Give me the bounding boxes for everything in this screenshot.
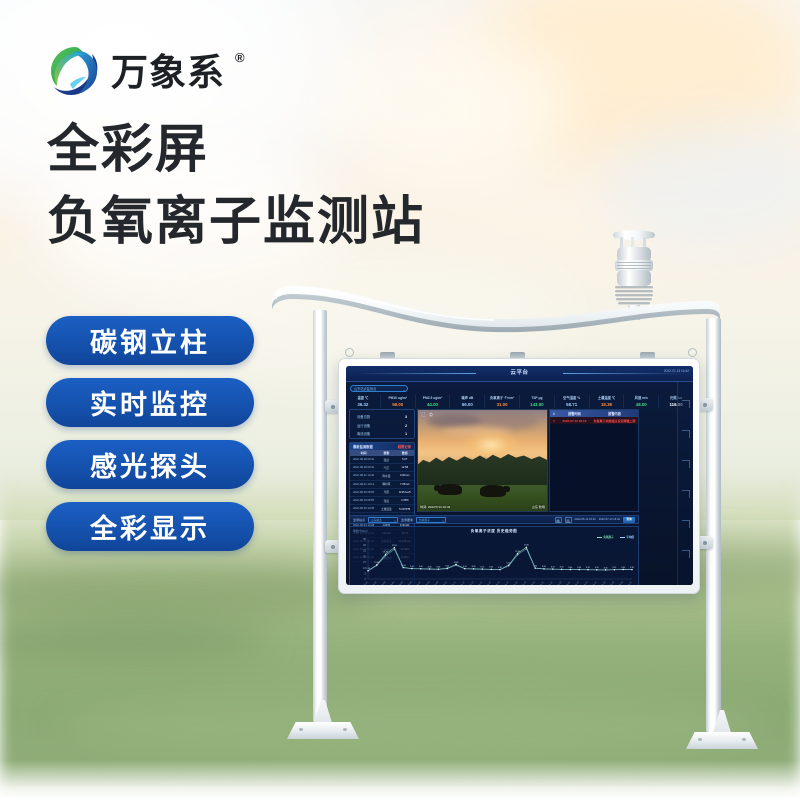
screen-right-rail — [677, 382, 693, 585]
records-title: 最新监测数据 — [353, 444, 373, 449]
record-time: 2022-08-19 08:55 — [350, 499, 377, 502]
anchor-hole — [698, 738, 702, 741]
table-row[interactable]: 2022-08-28 09:32气压12.58 — [350, 464, 414, 472]
metric-value: 143.00 — [520, 401, 554, 408]
alarm-col-message: 报警内容 — [591, 411, 638, 416]
svg-text:08-12: 08-12 — [461, 581, 467, 585]
brand-name: 万象系 — [111, 54, 225, 91]
svg-text:08-29: 08-29 — [610, 581, 616, 585]
record-value: 7.05m/s — [396, 483, 414, 486]
metric-value: 48.00 — [624, 401, 658, 408]
svg-text:27.80: 27.80 — [524, 545, 529, 547]
table-row[interactable]: 2022-08-18 13:35土壤温度5.0074℃ — [350, 505, 414, 513]
svg-text:08-25: 08-25 — [575, 581, 581, 585]
toolbar-label-element: 监测要素 — [401, 518, 413, 522]
record-time: 2022-08-28 09:32 — [350, 458, 377, 461]
chart-title: 负氧离子浓度 历史趋势图 — [471, 529, 518, 534]
record-name: 湿度 — [377, 499, 395, 503]
toolbar-element-select[interactable]: 负氧离子 ▾ — [416, 517, 446, 523]
record-name: 温度 — [377, 458, 395, 462]
metric-value: 31.00 — [485, 401, 519, 408]
record-time: 2022-08-21 13:12 — [350, 483, 377, 486]
svg-text:0: 0 — [365, 577, 367, 581]
svg-text:8.20: 8.20 — [586, 567, 590, 569]
station-select-value: 山东站点监测点 — [354, 387, 376, 391]
svg-text:5: 5 — [365, 571, 367, 575]
stats-value: 1 — [405, 430, 407, 439]
screen-title: 云平台 — [510, 368, 528, 376]
svg-text:15: 15 — [363, 560, 366, 564]
metric-2: PM2.5 ug/m³ 44.00 — [416, 395, 451, 408]
svg-text:8.30: 8.30 — [630, 567, 634, 569]
anchor-hole — [742, 738, 746, 741]
anchor-base-plate-right — [686, 710, 758, 750]
table-row[interactable]: 2022-08-19 08:55湿度3.35% — [350, 497, 414, 505]
svg-text:8.30: 8.30 — [498, 567, 502, 569]
rail-node — [682, 550, 690, 558]
headline-line-2: 负氧离子监测站 — [47, 194, 425, 250]
svg-text:08-31: 08-31 — [628, 581, 634, 585]
svg-text:8.00: 8.00 — [604, 567, 608, 569]
rail-node — [682, 520, 690, 528]
chart-icon[interactable]: ▥ — [565, 517, 572, 523]
rail-node — [682, 400, 690, 408]
column-header-name: 要素 — [377, 451, 395, 455]
stats-row: 离线设备 1 — [350, 430, 414, 439]
metric-4: 负氧离子 个/cm³ 31.00 — [485, 395, 520, 408]
svg-text:22.40: 22.40 — [515, 551, 520, 553]
headline-line-1: 全彩屏 — [47, 122, 425, 178]
metric-5: TSP μg 143.00 — [520, 395, 555, 408]
svg-text:8.30: 8.30 — [577, 567, 581, 569]
feature-pill-2[interactable]: 感光探头 — [46, 440, 254, 489]
records-alert-label: 超限记录 — [398, 444, 411, 449]
chart-unit-label: 单位(个/cm³) — [353, 529, 368, 533]
record-value: 0.00mm — [396, 474, 414, 477]
toolbar-date-end[interactable]: 2022-07-13 16:42 — [599, 518, 620, 521]
feature-pill-list: 碳钢立柱 实时监控 感光探头 全彩显示 — [46, 316, 254, 551]
svg-text:8.70: 8.70 — [551, 566, 555, 568]
display-enclosure: 云平台 2022-07-13 16:42 山东站点监测点 ▾ 温度 ℃ 36.3… — [338, 358, 700, 594]
table-row[interactable]: 2022-08-28 09:32温度5.07 — [350, 456, 414, 464]
alarm-time: 2022-07-13 16:12 — [558, 419, 591, 423]
lifting-eye-right-icon — [688, 348, 697, 357]
record-name: 瞬时风 — [377, 482, 395, 486]
chevron-down-icon: ▾ — [403, 388, 405, 395]
anchor-hole — [299, 728, 303, 731]
wave-canopy — [268, 281, 720, 343]
svg-text:20: 20 — [363, 554, 366, 558]
svg-text:8.20: 8.20 — [613, 567, 617, 569]
svg-text:9.20: 9.20 — [410, 566, 414, 568]
svg-text:12.80: 12.80 — [454, 562, 459, 564]
svg-text:08-13: 08-13 — [469, 581, 475, 585]
svg-text:35: 35 — [363, 537, 366, 541]
record-time: 2022-08-21 14:40 — [350, 474, 377, 477]
metric-6: 空气湿度 % 58.71 — [555, 395, 590, 408]
svg-text:08-11: 08-11 — [452, 581, 457, 585]
svg-text:08-20: 08-20 — [531, 581, 537, 585]
query-toolbar: 监测站点 山东站点 ▾ 监测要素 负氧离子 ▾ ▤ ▥ 2022-06-13 1… — [349, 515, 639, 524]
topbar-deco-left — [356, 373, 476, 374]
svg-text:08-04: 08-04 — [390, 581, 396, 585]
svg-text:08-14: 08-14 — [478, 581, 484, 585]
metric-value: 58.00 — [381, 401, 415, 408]
metric-value: 44.00 — [416, 401, 450, 408]
toolbar-date-start[interactable]: 2022-06-13 16:42 — [575, 518, 596, 521]
metric-value: 36.32 — [346, 401, 380, 408]
metric-1: PM10 ug/m³ 58.00 — [381, 395, 416, 408]
bottom-fade — [0, 760, 800, 800]
record-value: 12.58 — [396, 466, 414, 469]
svg-text:08-24: 08-24 — [566, 581, 572, 585]
record-value: 5.0074℃ — [396, 507, 414, 511]
svg-text:08-05: 08-05 — [399, 581, 405, 585]
svg-text:08-21: 08-21 — [540, 581, 546, 585]
screen-clock: 2022-07-13 16:42 — [664, 369, 689, 373]
svg-text:8.10: 8.10 — [595, 567, 599, 569]
carbon-steel-post-right — [706, 318, 721, 732]
stats-label: 离线设备 — [357, 430, 370, 439]
toolbar-element-value: 负氧离子 — [419, 519, 430, 522]
metric-3: 噪声 dB 66.00 — [450, 395, 485, 408]
svg-text:8.40: 8.40 — [569, 567, 573, 569]
record-name: 气压 — [377, 466, 395, 470]
base-plate — [287, 722, 359, 739]
toolbar-station-value: 山东站点 — [371, 519, 382, 522]
table-row[interactable]: 2022-08-21 14:40降水量0.00mm — [350, 472, 414, 480]
svg-text:08-22: 08-22 — [549, 581, 555, 585]
alarm-panel: # 报警时间 报警内容 1 2022-07-13 16:12 负氧离子浓度超过设… — [549, 409, 639, 512]
anchor-base-plate-left — [287, 700, 359, 740]
table-row[interactable]: 2022-08-20 08:05光照1136 lux/h — [350, 489, 414, 497]
lifting-eye-left-icon — [345, 348, 354, 357]
svg-text:08-17: 08-17 — [505, 581, 511, 585]
svg-text:08-16: 08-16 — [496, 581, 502, 585]
base-plate — [686, 732, 758, 749]
rail-node — [682, 430, 690, 438]
svg-text:08-23: 08-23 — [557, 581, 563, 585]
video-timestamp: 时间: 2022/7/13 16:42 — [420, 504, 450, 509]
svg-text:08-15: 08-15 — [487, 581, 493, 585]
feature-pill-0[interactable]: 碳钢立柱 — [46, 316, 254, 365]
alarm-message: 负氧离子浓度超过设定阈值上限 — [591, 419, 638, 423]
registered-trademark-icon: ® — [235, 50, 245, 65]
column-header-value: 数值 — [396, 451, 414, 455]
svg-text:08-27: 08-27 — [593, 581, 599, 585]
video-cow — [480, 485, 506, 497]
globe-swirl-logo-icon — [48, 44, 102, 98]
svg-text:8.50: 8.50 — [489, 567, 493, 569]
svg-text:08-30: 08-30 — [619, 581, 625, 585]
alarm-col-index: # — [550, 412, 558, 416]
svg-text:08-07: 08-07 — [417, 581, 423, 585]
alarm-col-time: 报警时间 — [558, 411, 591, 416]
record-value: 3.35% — [396, 499, 414, 502]
svg-text:30: 30 — [363, 543, 366, 547]
svg-text:8.90: 8.90 — [542, 566, 546, 568]
query-button[interactable]: 查询 — [623, 517, 635, 523]
live-camera-feed[interactable]: ⛶ ⛭ 时间: 2022/7/13 16:42 山东 牧场 — [417, 409, 548, 512]
table-row[interactable]: 2022-08-21 13:12瞬时风7.05m/s — [350, 481, 414, 489]
svg-text:8.60: 8.60 — [437, 567, 441, 569]
feature-pill-1[interactable]: 实时监控 — [46, 378, 254, 427]
video-camera-name: 山东 牧场 — [532, 504, 545, 509]
topbar-deco-right — [563, 373, 683, 374]
svg-text:08-10: 08-10 — [443, 581, 449, 585]
column-header-time: 时间 — [350, 451, 377, 455]
field-band — [60, 690, 760, 760]
metric-value: 66.00 — [450, 401, 484, 408]
screen-topbar: 云平台 2022-07-13 16:42 — [346, 366, 693, 382]
svg-text:10.10: 10.10 — [401, 565, 406, 567]
svg-text:8.70: 8.70 — [481, 566, 485, 568]
svg-text:08-19: 08-19 — [522, 581, 528, 585]
station-select[interactable]: 山东站点监测点 ▾ — [350, 385, 408, 392]
page-title: 全彩屏 负氧离子监测站 — [47, 122, 425, 250]
stats-row: 运行设备 2 — [350, 422, 414, 431]
chevron-down-icon: ▾ — [442, 519, 443, 525]
svg-text:9.10: 9.10 — [463, 566, 467, 568]
carbon-steel-post-left — [313, 310, 327, 722]
stats-row: 设备总数 3 — [350, 413, 414, 422]
svg-text:08-01: 08-01 — [364, 581, 370, 585]
svg-text:08-08: 08-08 — [425, 581, 431, 585]
stats-label: 设备总数 — [357, 413, 370, 422]
svg-text:8.40: 8.40 — [621, 567, 625, 569]
metric-value: 18.38 — [590, 401, 624, 408]
brand-logo: 万象系 ® — [48, 44, 244, 98]
feature-pill-3[interactable]: 全彩显示 — [46, 502, 254, 551]
svg-text:08-03: 08-03 — [381, 581, 387, 585]
svg-text:08-26: 08-26 — [584, 581, 590, 585]
led-screen[interactable]: 云平台 2022-07-13 16:42 山东站点监测点 ▾ 温度 ℃ 36.3… — [346, 366, 693, 585]
svg-text:8.50: 8.50 — [560, 567, 564, 569]
chevron-down-icon: ▾ — [394, 519, 395, 525]
metric-8: 风速 m/s 48.00 — [624, 395, 659, 408]
alarm-header: # 报警时间 报警内容 — [550, 410, 638, 417]
device-stats-panel: 设备总数 3 运行设备 2 离线设备 1 — [349, 409, 415, 439]
svg-text:27.50: 27.50 — [392, 545, 397, 547]
record-value: 5.07 — [396, 458, 414, 461]
stats-value: 3 — [405, 413, 407, 422]
record-time: 2022-08-18 13:35 — [350, 507, 377, 510]
records-header: 最新监测数据 超限记录 — [350, 443, 414, 450]
record-name: 光照 — [377, 490, 395, 494]
svg-text:21.60: 21.60 — [383, 552, 388, 554]
svg-text:08-18: 08-18 — [513, 581, 519, 585]
record-name: 降水量 — [377, 474, 395, 478]
table-icon[interactable]: ▤ — [555, 517, 562, 523]
alarm-index: 1 — [550, 419, 558, 423]
anchor-hole — [343, 728, 347, 731]
svg-text:25: 25 — [363, 549, 366, 553]
rail-node — [682, 490, 690, 498]
camera-icon[interactable]: ⛭ — [428, 412, 434, 418]
toolbar-label-station: 监测站点 — [353, 518, 365, 522]
video-cow — [438, 484, 462, 495]
metric-0: 温度 ℃ 36.32 — [346, 395, 381, 408]
metrics-strip: 温度 ℃ 36.32 PM10 ug/m³ 58.00 PM2.5 ug/m³ … — [346, 395, 693, 408]
svg-text:08-09: 08-09 — [434, 581, 440, 585]
record-time: 2022-08-20 08:05 — [350, 491, 377, 494]
metric-7: 土壤温度 ℃ 18.38 — [590, 395, 625, 408]
svg-text:8.80: 8.80 — [428, 566, 432, 568]
record-name: 土壤温度 — [377, 507, 395, 511]
stats-label: 运行设备 — [357, 422, 370, 431]
svg-text:8.90: 8.90 — [472, 566, 476, 568]
history-chart-panel: 单位(个/cm³) 负氧离子浓度 历史趋势图 负氧离子 平均值 05101520… — [349, 526, 639, 585]
svg-text:9.00: 9.00 — [419, 566, 423, 568]
toolbar-station-select[interactable]: 山东站点 ▾ — [368, 517, 398, 523]
expand-icon[interactable]: ⛶ — [420, 412, 426, 418]
stats-value: 2 — [405, 422, 407, 431]
svg-text:9.40: 9.40 — [445, 566, 449, 568]
record-value: 1136 lux/h — [396, 491, 414, 494]
rail-node — [682, 460, 690, 468]
svg-text:08-28: 08-28 — [601, 581, 607, 585]
svg-text:08-02: 08-02 — [373, 581, 379, 585]
history-line-chart: 0510152025303508-0108-0208-0308-0408-050… — [350, 535, 640, 585]
record-time: 2022-08-28 09:32 — [350, 466, 377, 469]
metric-value: 58.71 — [555, 401, 589, 408]
svg-text:08-06: 08-06 — [408, 581, 414, 585]
alarm-row[interactable]: 1 2022-07-13 16:12 负氧离子浓度超过设定阈值上限 — [550, 417, 638, 424]
